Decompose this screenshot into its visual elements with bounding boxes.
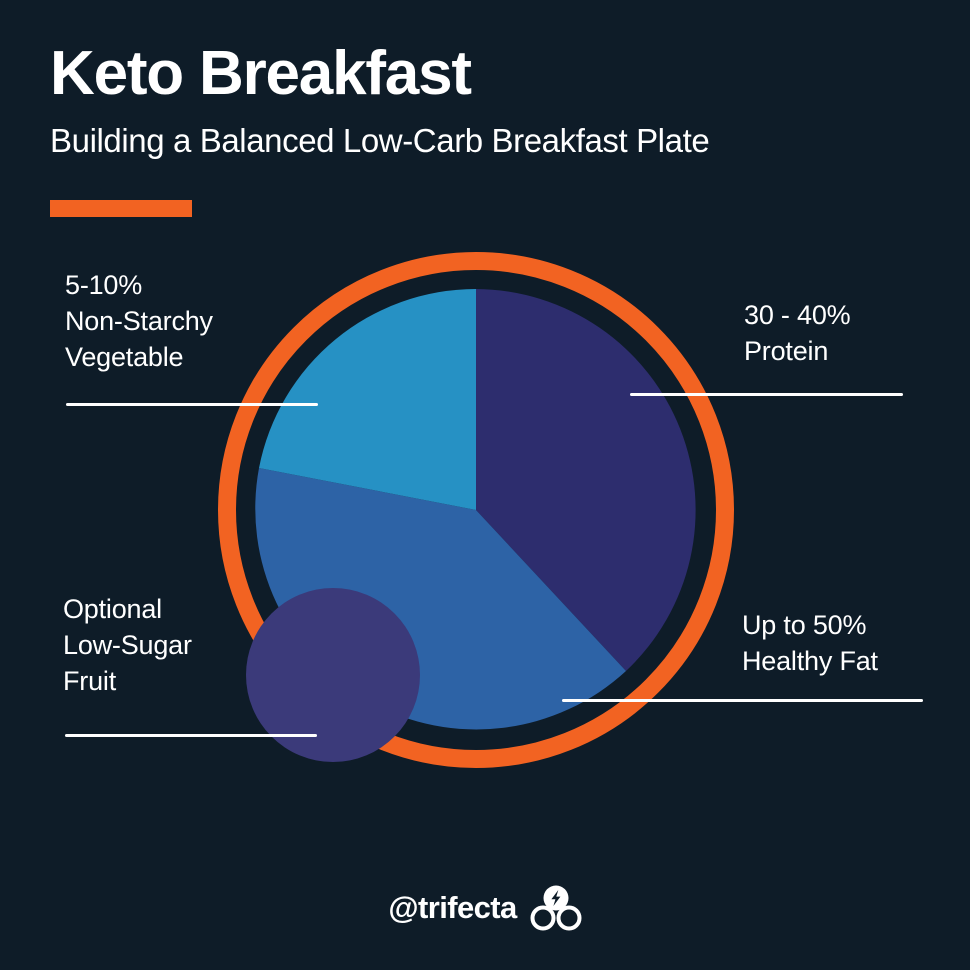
pie-slice-protein[interactable] [476, 289, 696, 671]
infographic-canvas: Keto Breakfast Building a Balanced Low-C… [0, 0, 970, 970]
callout-label-fruit: Optional Low-Sugar Fruit [63, 592, 313, 700]
callout-rule-vegetable [66, 403, 318, 406]
callout-label-fat: Up to 50% Healthy Fat [742, 608, 970, 680]
callout-rule-protein [630, 393, 903, 396]
page-title: Keto Breakfast [50, 42, 930, 105]
page-subtitle: Building a Balanced Low-Carb Breakfast P… [50, 123, 930, 159]
footer-brand: @trifecta [0, 884, 970, 932]
header: Keto Breakfast Building a Balanced Low-C… [50, 42, 930, 160]
brand-handle[interactable]: @trifecta [388, 890, 516, 926]
accent-bar [50, 200, 192, 217]
callout-label-protein: 30 - 40% Protein [744, 298, 970, 370]
callout-rule-fat [562, 699, 923, 702]
callout-rule-fruit [65, 734, 317, 737]
trifecta-trio-rings-bolt-icon [530, 884, 582, 932]
callout-label-vegetable: 5-10% Non-Starchy Vegetable [65, 268, 335, 376]
